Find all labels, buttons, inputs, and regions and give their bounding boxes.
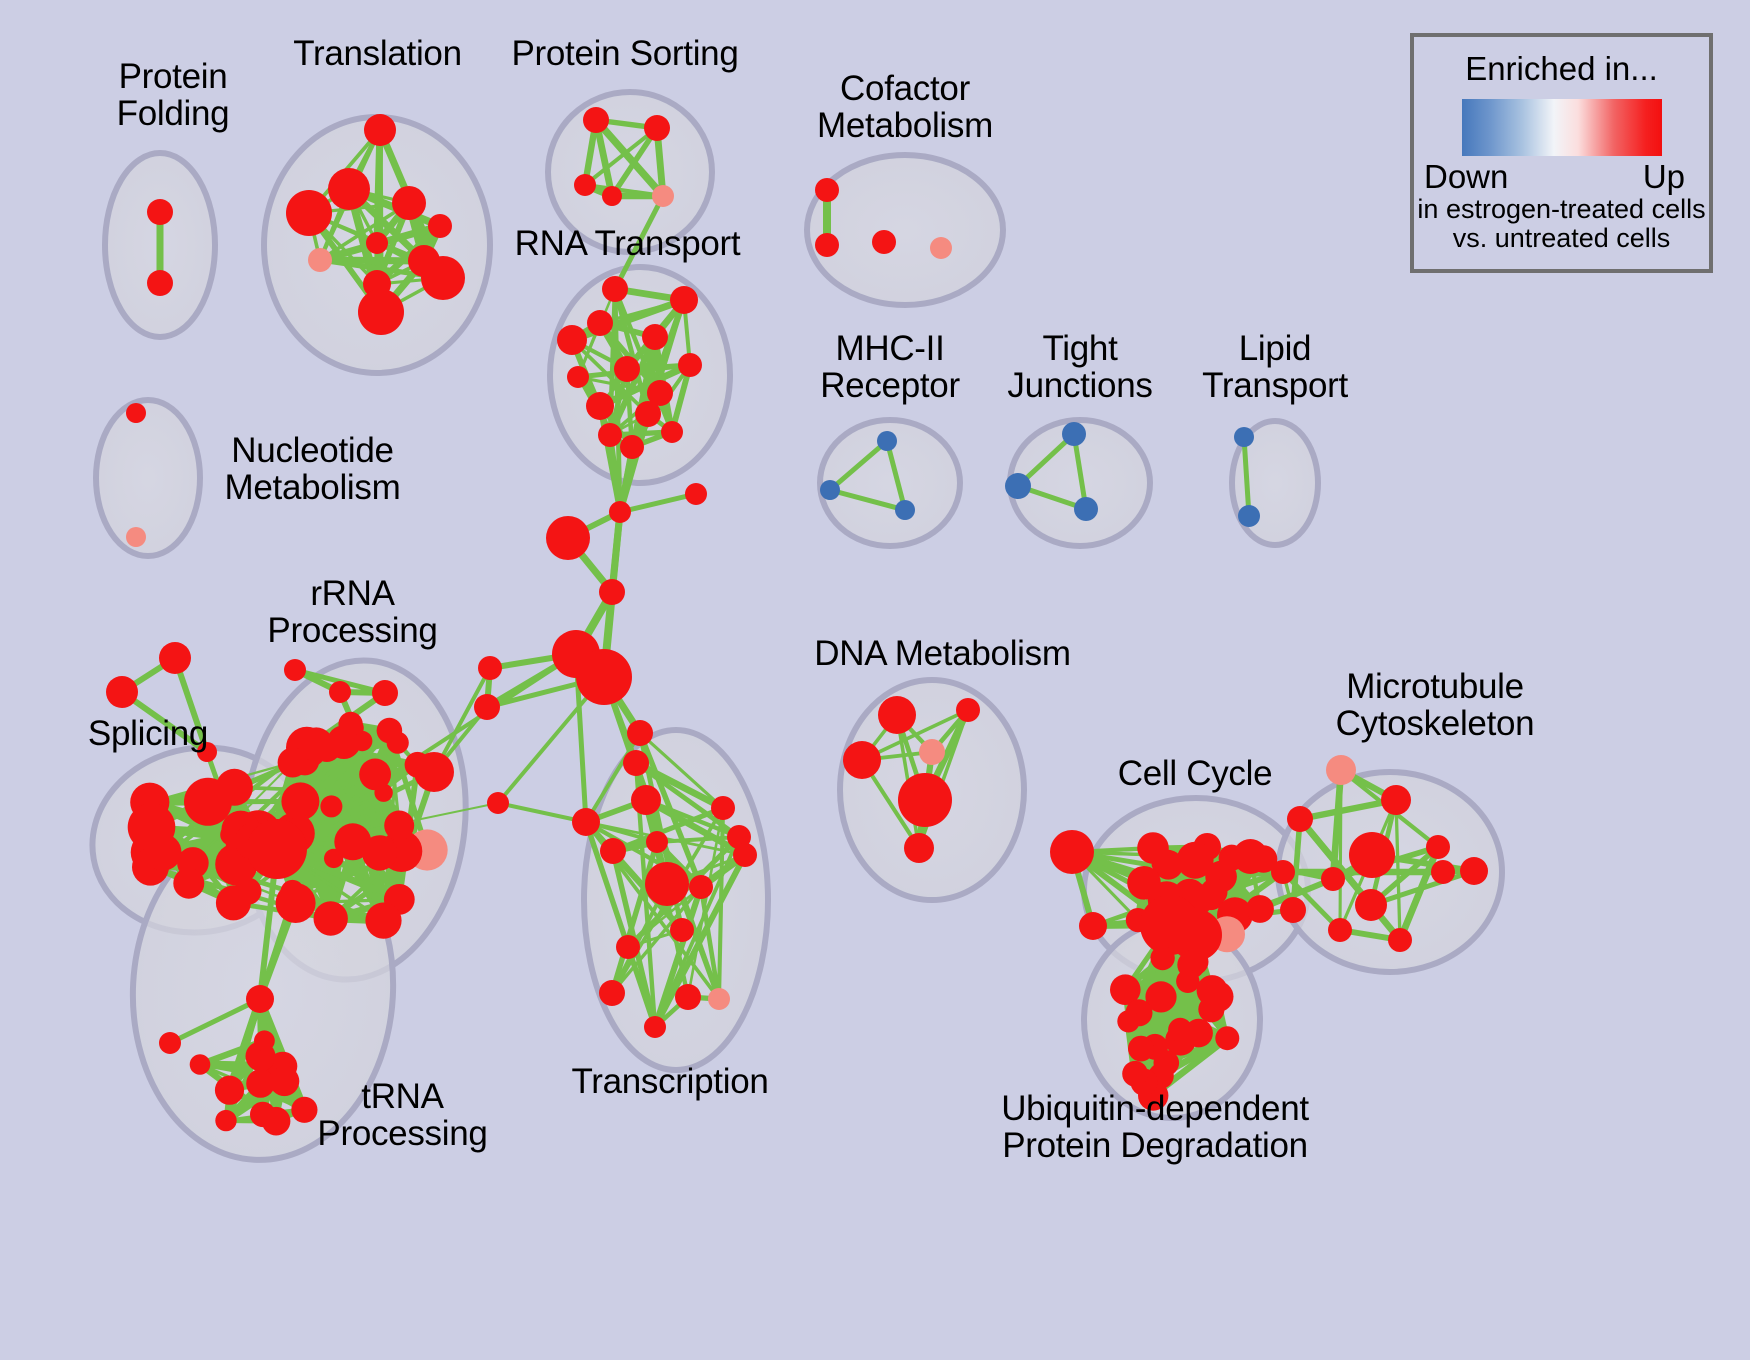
network-node [281, 782, 319, 820]
network-node [358, 289, 404, 335]
network-node [1128, 1036, 1154, 1062]
network-node [338, 712, 362, 736]
network-node [1154, 1050, 1180, 1076]
network-node [364, 114, 396, 146]
network-node [661, 421, 683, 443]
network-node [216, 885, 251, 920]
network-node [904, 833, 934, 863]
network-node [1355, 889, 1387, 921]
network-node [898, 773, 952, 827]
network-node [1005, 473, 1031, 499]
network-node [820, 480, 840, 500]
network-node [328, 168, 370, 210]
network-node [586, 392, 614, 420]
network-node [262, 1107, 291, 1136]
network-node [877, 431, 897, 451]
network-node [623, 750, 649, 776]
cluster-label-mhc-ii-receptor: MHC-II Receptor [795, 330, 985, 405]
network-node [270, 1066, 300, 1096]
network-node [576, 649, 632, 705]
network-node [1234, 427, 1254, 447]
cluster-label-transcription: Transcription [570, 1063, 770, 1100]
network-node [1050, 830, 1094, 874]
network-node [1215, 1026, 1239, 1050]
network-node [567, 366, 589, 388]
network-node [190, 1054, 211, 1075]
cluster-label-microtubule-cytoskeleton: Microtubule Cytoskeleton [1310, 668, 1560, 743]
network-node [384, 811, 414, 841]
network-node [1079, 912, 1107, 940]
network-node [421, 256, 465, 300]
network-node [652, 185, 674, 207]
network-node [843, 741, 881, 779]
network-node [627, 720, 653, 746]
network-node [815, 178, 839, 202]
network-node [815, 233, 839, 257]
network-node [600, 838, 626, 864]
legend-box: Enriched in... Down Up in estrogen-treat… [1410, 33, 1713, 273]
cluster-ellipse-cofactor-metabolism [807, 155, 1003, 305]
network-node [314, 901, 348, 935]
network-node [678, 353, 702, 377]
legend-caption-line-1: in estrogen-treated cells [1414, 194, 1709, 225]
network-node [895, 500, 915, 520]
network-node [1117, 1010, 1139, 1032]
network-node [1388, 928, 1412, 952]
network-node [1321, 867, 1345, 891]
network-edge [620, 494, 696, 512]
network-node [1246, 895, 1274, 923]
cluster-label-ubiquitin-degradation: Ubiquitin-dependent Protein Degradation [990, 1090, 1320, 1165]
legend-low-label: Down [1424, 158, 1508, 196]
network-node [689, 875, 713, 899]
cluster-label-trna-processing: tRNA Processing [305, 1078, 500, 1153]
network-node [646, 831, 668, 853]
network-node [1074, 497, 1098, 521]
network-node [602, 276, 628, 302]
network-node [598, 423, 622, 447]
network-node [1426, 835, 1450, 859]
network-node [126, 403, 146, 423]
network-node [1431, 860, 1455, 884]
network-node [670, 286, 698, 314]
network-node [387, 732, 409, 754]
network-node [872, 230, 896, 254]
network-node [644, 1016, 666, 1038]
network-node [614, 356, 640, 382]
network-node [147, 199, 173, 225]
network-node [616, 935, 640, 959]
network-node [366, 232, 388, 254]
network-node [1150, 946, 1174, 970]
network-node [602, 186, 622, 206]
cluster-label-nucleotide-metabolism: Nucleotide Metabolism [195, 432, 430, 507]
network-figure: Protein FoldingTranslationProtein Sortin… [0, 0, 1750, 1360]
cluster-label-protein-folding: Protein Folding [78, 58, 268, 133]
legend-caption-line-2: vs. untreated cells [1414, 223, 1709, 254]
network-node [620, 435, 644, 459]
network-node [733, 843, 757, 867]
network-node [675, 984, 701, 1010]
network-node [215, 1110, 236, 1131]
cluster-label-protein-sorting: Protein Sorting [500, 35, 750, 72]
network-node [159, 1032, 181, 1054]
network-node [711, 796, 735, 820]
legend-title: Enriched in... [1414, 50, 1709, 88]
network-node [1238, 505, 1260, 527]
network-node [215, 1076, 244, 1105]
network-node [635, 401, 661, 427]
network-node [1328, 918, 1352, 942]
network-node [546, 516, 590, 560]
legend-high-label: Up [1643, 158, 1685, 196]
network-node [128, 803, 176, 851]
network-node [126, 527, 146, 547]
network-node [372, 680, 398, 706]
network-node [1219, 845, 1245, 871]
network-node [956, 698, 980, 722]
network-node [642, 324, 668, 350]
cluster-label-tight-junctions: Tight Junctions [985, 330, 1175, 405]
network-node [414, 752, 454, 792]
network-node [1122, 1061, 1148, 1087]
network-node [359, 759, 391, 791]
network-node [644, 115, 670, 141]
network-node [487, 792, 509, 814]
cluster-label-dna-metabolism: DNA Metabolism [810, 635, 1075, 672]
network-node [574, 174, 596, 196]
network-node [334, 823, 371, 860]
network-node [254, 1030, 275, 1051]
network-node [1326, 755, 1356, 785]
network-node [308, 248, 332, 272]
legend-endpoints: Down Up [1420, 158, 1703, 196]
cluster-label-splicing: Splicing [58, 715, 238, 752]
network-node [1460, 857, 1488, 885]
network-node [930, 237, 952, 259]
network-node [587, 310, 613, 336]
network-node [685, 483, 707, 505]
network-node [106, 676, 138, 708]
network-node [286, 190, 332, 236]
cluster-label-rna-transport: RNA Transport [505, 225, 750, 262]
cluster-label-cell-cycle: Cell Cycle [1105, 755, 1285, 792]
network-node [631, 785, 661, 815]
network-node [557, 325, 587, 355]
network-node [184, 778, 232, 826]
network-node [572, 808, 600, 836]
network-node [428, 214, 452, 238]
network-node [276, 883, 316, 923]
network-node [329, 681, 351, 703]
network-node [1381, 785, 1411, 815]
network-node [1177, 842, 1214, 879]
network-node [1203, 981, 1234, 1012]
legend-gradient-bar [1462, 99, 1662, 156]
cluster-label-rrna-processing: rRNA Processing [250, 575, 455, 650]
network-node [609, 501, 631, 523]
network-node [670, 918, 694, 942]
cluster-label-translation: Translation [265, 35, 490, 72]
network-node [1287, 806, 1313, 832]
network-edge [1340, 770, 1341, 930]
network-node [1271, 860, 1295, 884]
network-node [159, 642, 191, 674]
network-node [1176, 970, 1199, 993]
network-node [478, 656, 502, 680]
network-node [474, 694, 500, 720]
network-node [1168, 1018, 1192, 1042]
network-node [878, 696, 916, 734]
cluster-label-cofactor-metabolism: Cofactor Metabolism [790, 70, 1020, 145]
network-node [284, 659, 306, 681]
network-node [365, 903, 401, 939]
network-node [246, 985, 274, 1013]
network-node [583, 107, 609, 133]
network-node [147, 270, 173, 296]
network-node [1062, 422, 1086, 446]
network-node [247, 819, 307, 879]
network-node [1349, 832, 1395, 878]
network-node [645, 862, 689, 906]
network-node [599, 579, 625, 605]
network-node [173, 868, 204, 899]
network-node [1280, 897, 1306, 923]
network-node [312, 733, 341, 762]
network-node [919, 739, 945, 765]
network-node [708, 988, 730, 1010]
network-node [599, 980, 625, 1006]
cluster-ellipse-nucleotide-metabolism [96, 400, 200, 556]
network-node [392, 186, 426, 220]
cluster-label-lipid-transport: Lipid Transport [1180, 330, 1370, 405]
network-node [320, 795, 342, 817]
